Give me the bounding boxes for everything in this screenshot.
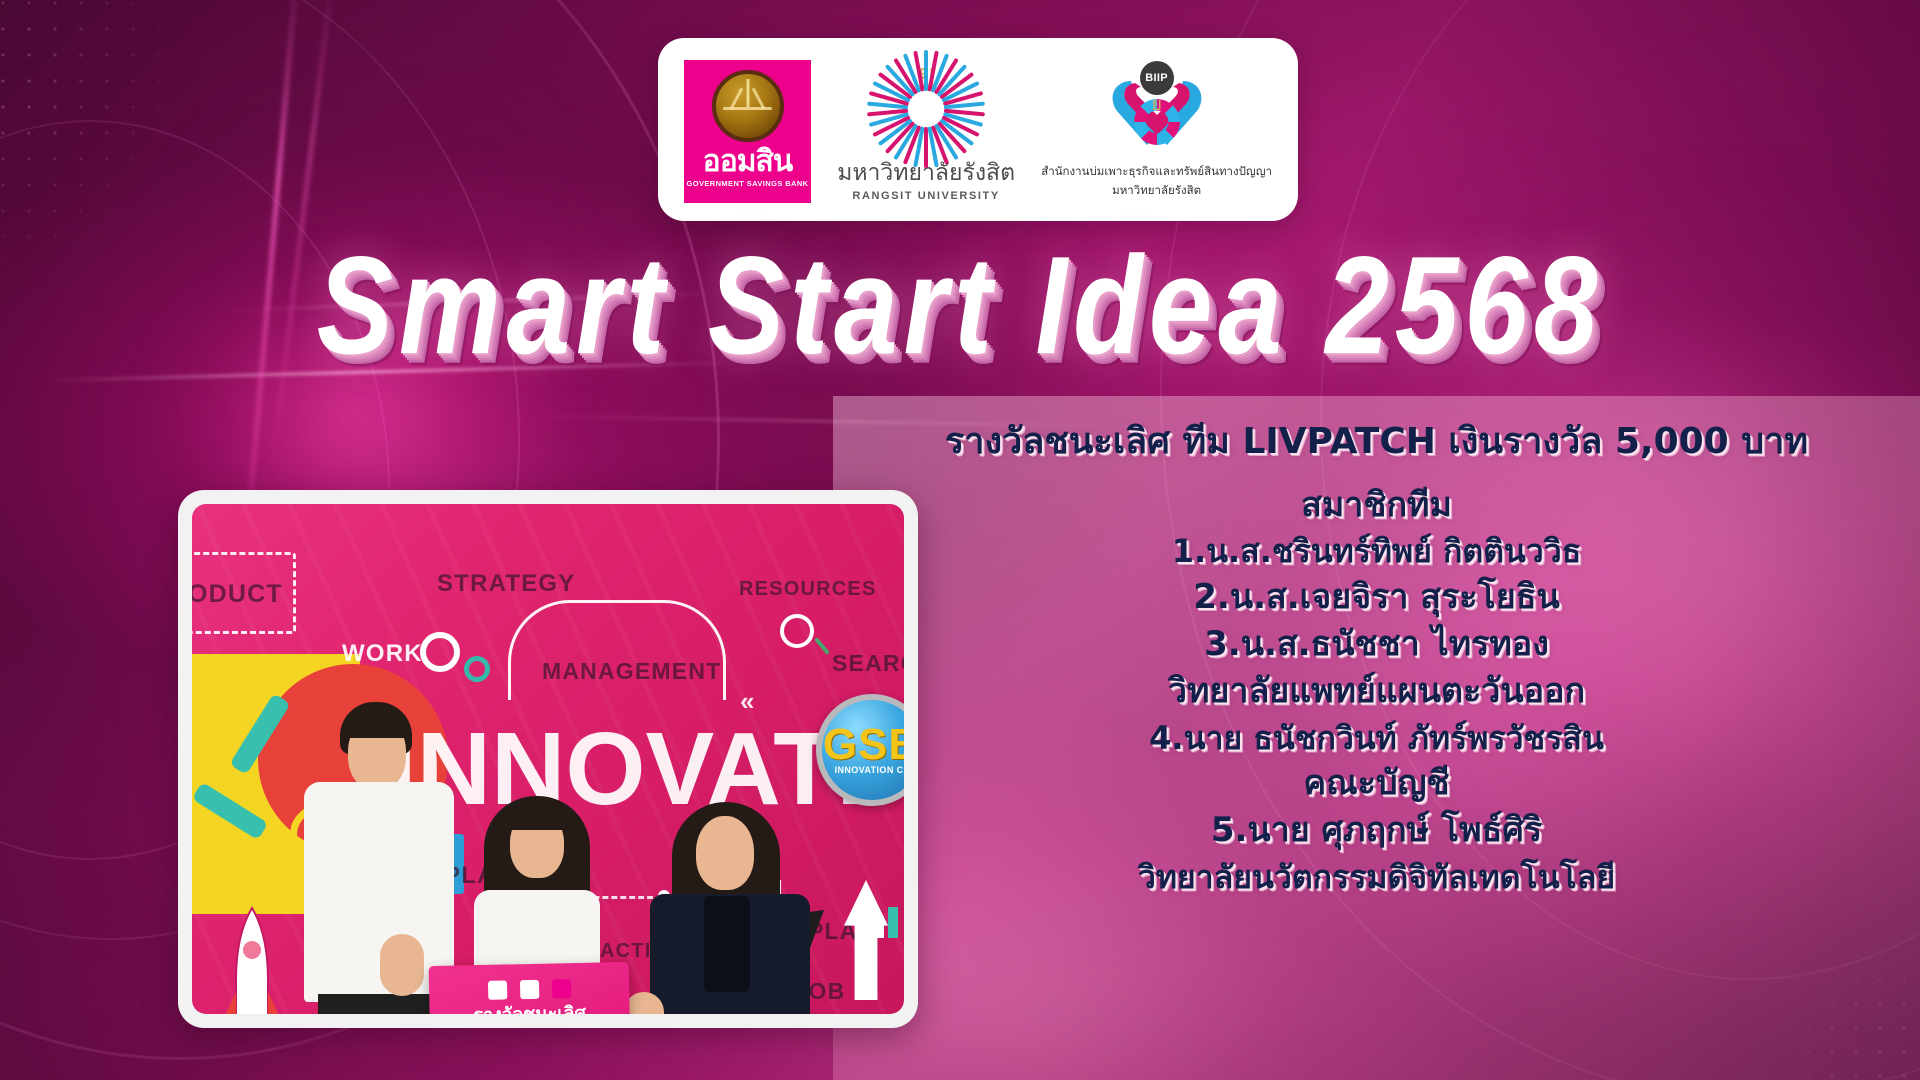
backdrop-magnifier-icon	[780, 614, 814, 648]
sponsor-logo-bar: ออมสิน GOVERNMENT SAVINGS BANK ย มหาวิทย…	[658, 38, 1298, 221]
gsb-seal-icon: ออมสิน GOVERNMENT SAVINGS BANK	[684, 60, 811, 203]
team-member-line: วิทยาลัยแพทย์แผนตะวันออก	[1168, 668, 1585, 715]
team-member-line: วิทยาลัยนวัตกรรมดิจิทัลเทดโนโลยี	[1138, 855, 1615, 899]
award-text-panel: รางวัลชนะเลิศ ทีม LIVPATCH เงินรางวัล 5,…	[833, 396, 1920, 1080]
backdrop-rocket-icon	[224, 906, 280, 1014]
gsb-badge-line2: INNOVATION CL	[835, 765, 904, 775]
biip-thai-name-line1: สำนักงานบ่มเพาะธุรกิจและทรัพย์สินทางปัญญ…	[1041, 163, 1272, 181]
gsb-english-name: GOVERNMENT SAVINGS BANK	[687, 179, 809, 188]
backdrop-word: ODUCT	[192, 580, 283, 609]
members-heading: สมาชิกทีม	[1301, 482, 1452, 529]
plaque-logo-rsu-icon	[487, 981, 506, 1000]
backdrop-word: MANAGEMENT	[542, 658, 721, 685]
backdrop-word: SEARCH	[832, 650, 904, 677]
gsb-thai-name: ออมสิน	[703, 147, 793, 177]
team-member-line: คณะบัญชี	[1303, 760, 1449, 807]
backdrop-word: STRATEGY	[437, 570, 576, 598]
award-ceremony-photo: ODUCT STRATEGY RESOURCES WORK MANAGEMENT…	[192, 504, 904, 1014]
logo-rangsit-university: ย มหาวิทยาลัยรังสิต RANGSIT UNIVERSITY	[837, 61, 1015, 201]
backdrop-headline-word: INNOVATI	[388, 710, 865, 828]
biip-heart-icon: BIIP ย	[1101, 63, 1213, 159]
team-member-line: 5.นาย ศุภฤกษ์ โพธ์ศิริ	[1211, 807, 1542, 854]
logo-biip: BIIP ย สำนักงานบ่มเพาะธุรกิจและทรัพย์สิน…	[1041, 63, 1272, 200]
team-member-line: 3.น.ส.ธนัชชา ไทรทอง	[1204, 621, 1549, 668]
team-member-line: 4.นาย ธนัชกวินท์ ภัทร์พรวัชรสิน	[1149, 716, 1604, 760]
backdrop-word: WORK	[342, 640, 423, 668]
gsb-badge-line1: GSB	[823, 725, 904, 765]
logo-gsb: ออมสิน GOVERNMENT SAVINGS BANK	[684, 60, 811, 203]
award-plaque: รางวัลชนะเลิศ โครงการ “Smart Start Idea …	[429, 962, 632, 1014]
rangsit-ray	[924, 127, 928, 168]
backdrop-gear-icon	[420, 632, 460, 672]
team-member-line: 1.น.ส.ชรินทร์ทิพย์ กิตตินววิธ	[1172, 529, 1582, 573]
rsu-english-name: RANGSIT UNIVERSITY	[852, 190, 999, 202]
backdrop-cloud-icon	[508, 600, 726, 700]
award-ceremony-photo-card: ODUCT STRATEGY RESOURCES WORK MANAGEMENT…	[178, 490, 918, 1028]
plaque-logo-biip-icon	[519, 980, 538, 999]
backdrop-chevrons-icon: «	[740, 686, 754, 717]
backdrop-word: RESOURCES	[739, 578, 877, 601]
backdrop-gear-icon	[464, 656, 490, 682]
team-members-list: สมาชิกทีม 1.น.ส.ชรินทร์ทิพย์ กิตตินววิธ2…	[1138, 482, 1615, 899]
biip-thai-name-line2: มหาวิทยาลัยรังสิต	[1112, 182, 1201, 200]
plaque-title: รางวัลชนะเลิศ	[473, 1004, 586, 1014]
award-headline: รางวัลชนะเลิศ ทีม LIVPATCH เงินรางวัล 5,…	[945, 418, 1808, 466]
rangsit-sunburst-icon: ย	[878, 61, 974, 157]
plaque-logo-gsb-icon	[551, 979, 570, 998]
biip-flame-icon: ย	[1151, 89, 1162, 118]
plaque-logo-row	[487, 979, 570, 1000]
gsb-emblem-icon	[712, 70, 784, 142]
poster-title: Smart Start Idea 2568	[29, 226, 1891, 386]
team-member-line: 2.น.ส.เจยจิรา สุระโยธิน	[1193, 574, 1559, 621]
